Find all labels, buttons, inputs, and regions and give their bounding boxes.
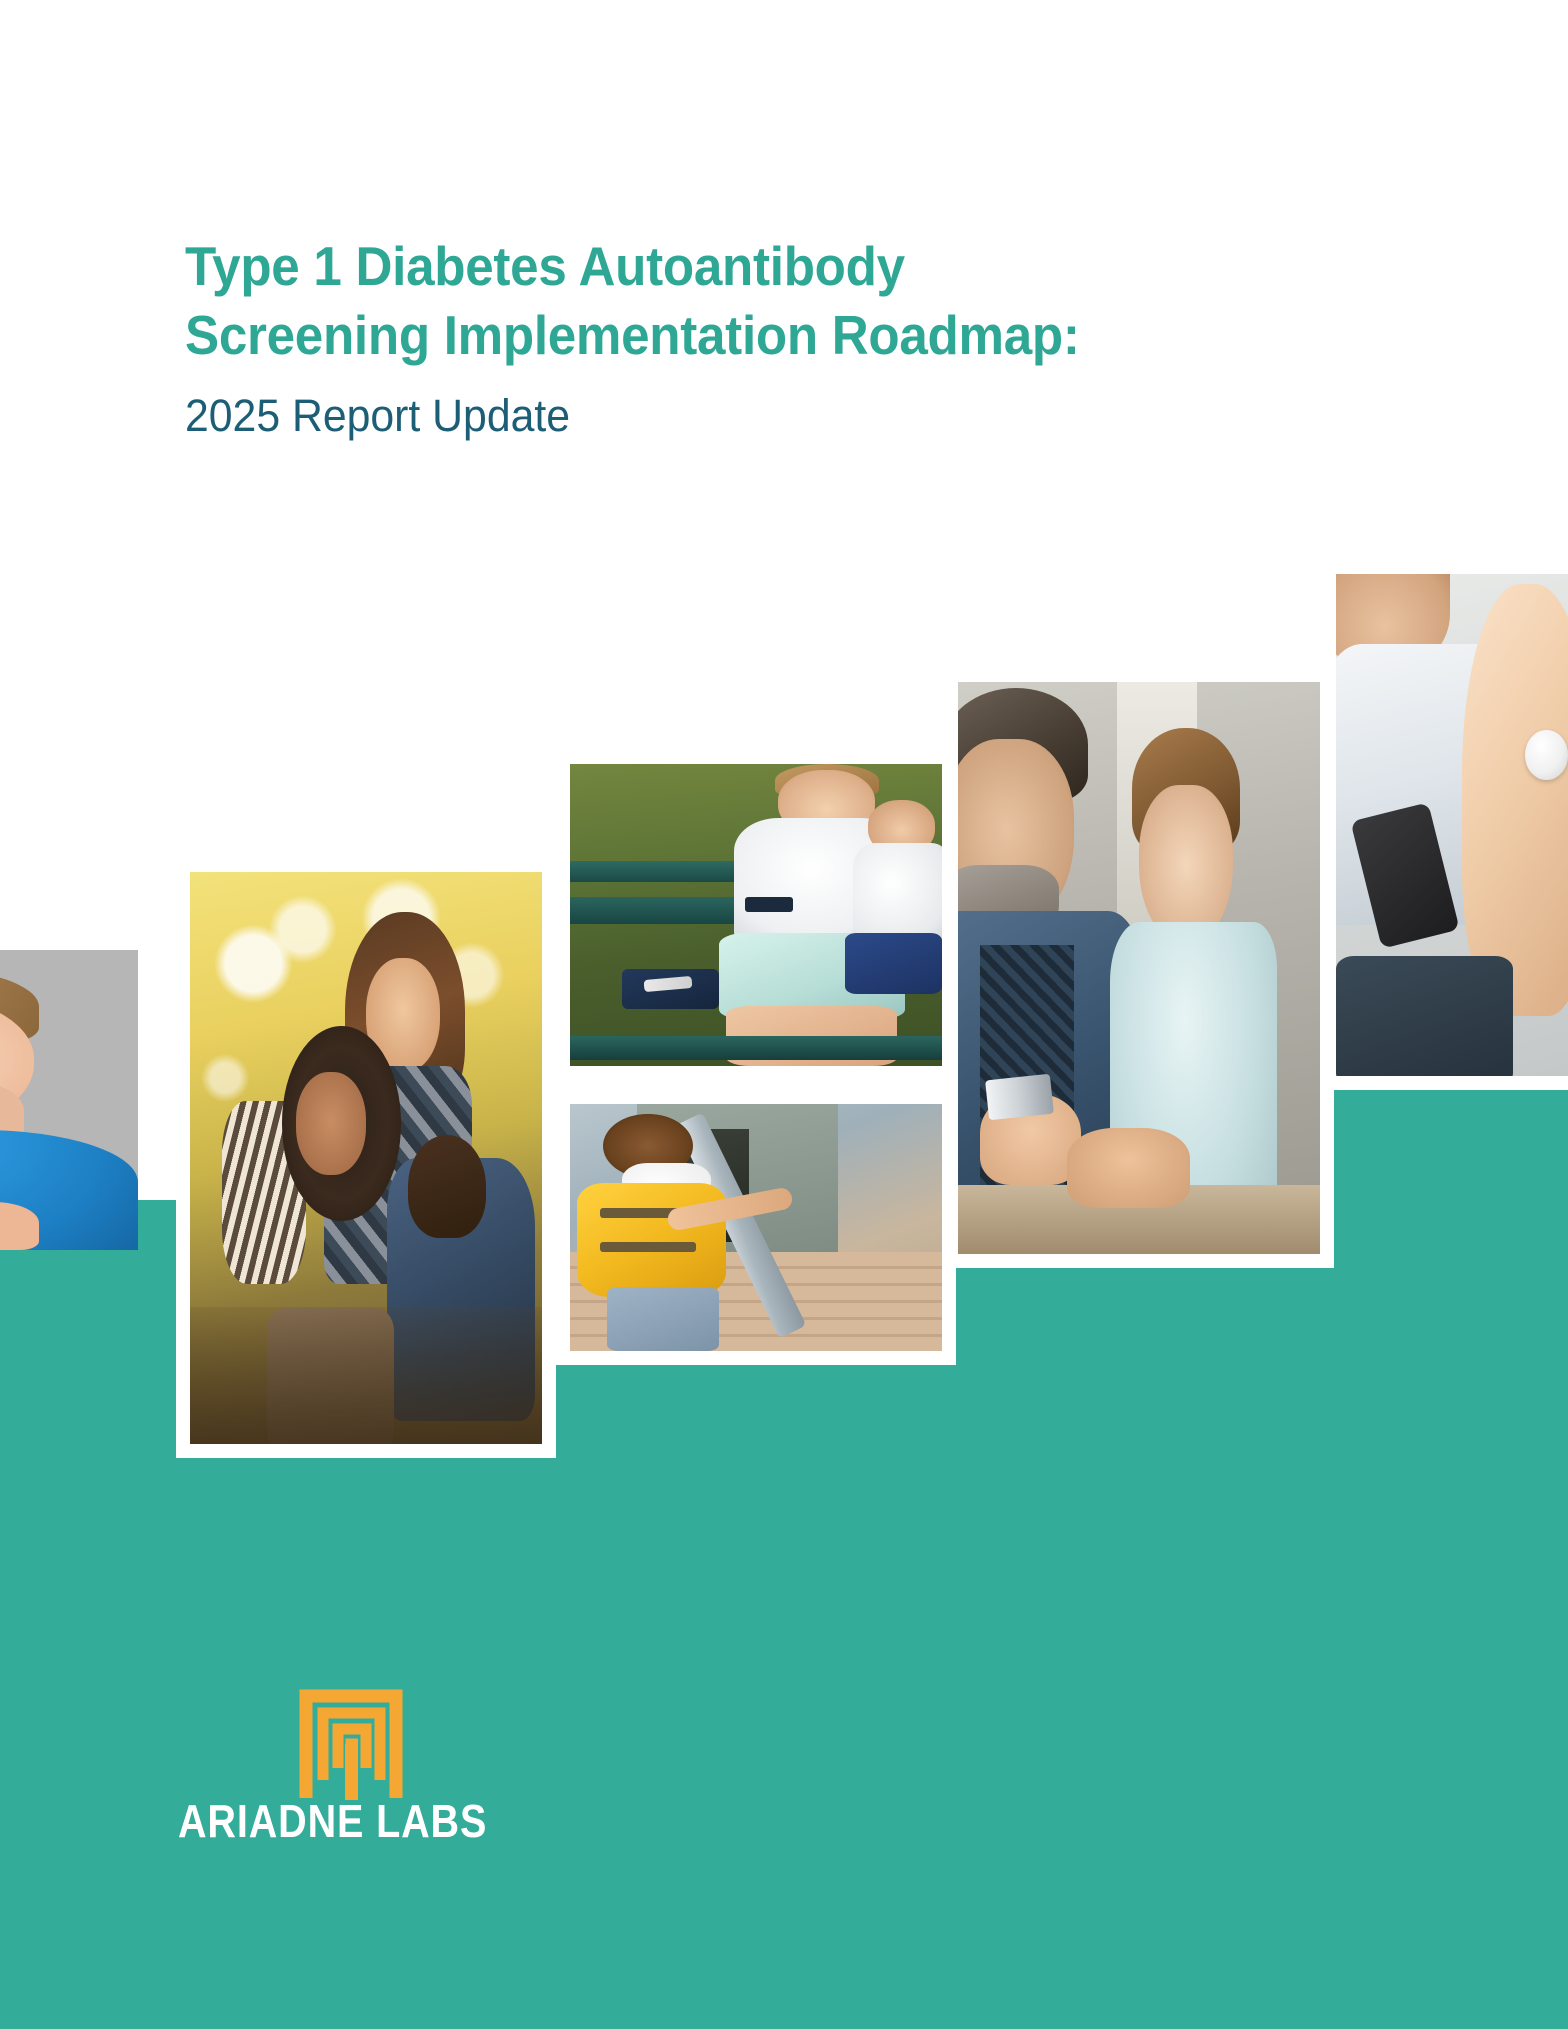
photo-card-three-kids-outdoors xyxy=(176,858,556,1458)
photo-card-arm-cgm-sensor xyxy=(1322,560,1568,1090)
ariadne-labs-logo: ARIADNE LABS xyxy=(178,1688,498,1858)
ariadne-labs-wordmark: ARIADNE LABS xyxy=(178,1792,453,1850)
photo-arm-cgm-sensor xyxy=(1336,574,1568,1076)
page-subtitle: 2025 Report Update xyxy=(185,388,1268,444)
page-title-line-1: Type 1 Diabetes Autoantibody xyxy=(185,232,1245,301)
photo-girl-backpack-stairs xyxy=(570,1104,942,1351)
cgm-sensor-icon xyxy=(1525,730,1568,780)
photo-father-and-son xyxy=(958,682,1320,1254)
photo-card-boy-park-bench xyxy=(556,750,956,1080)
cover-title-block: Type 1 Diabetes Autoantibody Screening I… xyxy=(185,232,1325,444)
page-title-line-2: Screening Implementation Roadmap: xyxy=(185,301,1245,370)
cover-page: Type 1 Diabetes Autoantibody Screening I… xyxy=(0,0,1568,2029)
labyrinth-maze-mark-icon xyxy=(296,1688,406,1800)
photo-boy-studio xyxy=(0,950,138,1250)
photo-boy-park-bench xyxy=(570,764,942,1066)
photo-card-girl-backpack-stairs xyxy=(556,1090,956,1365)
photo-three-kids-outdoors xyxy=(190,872,542,1444)
photo-card-boy-studio xyxy=(0,950,138,1250)
photo-card-father-and-son xyxy=(944,668,1334,1268)
